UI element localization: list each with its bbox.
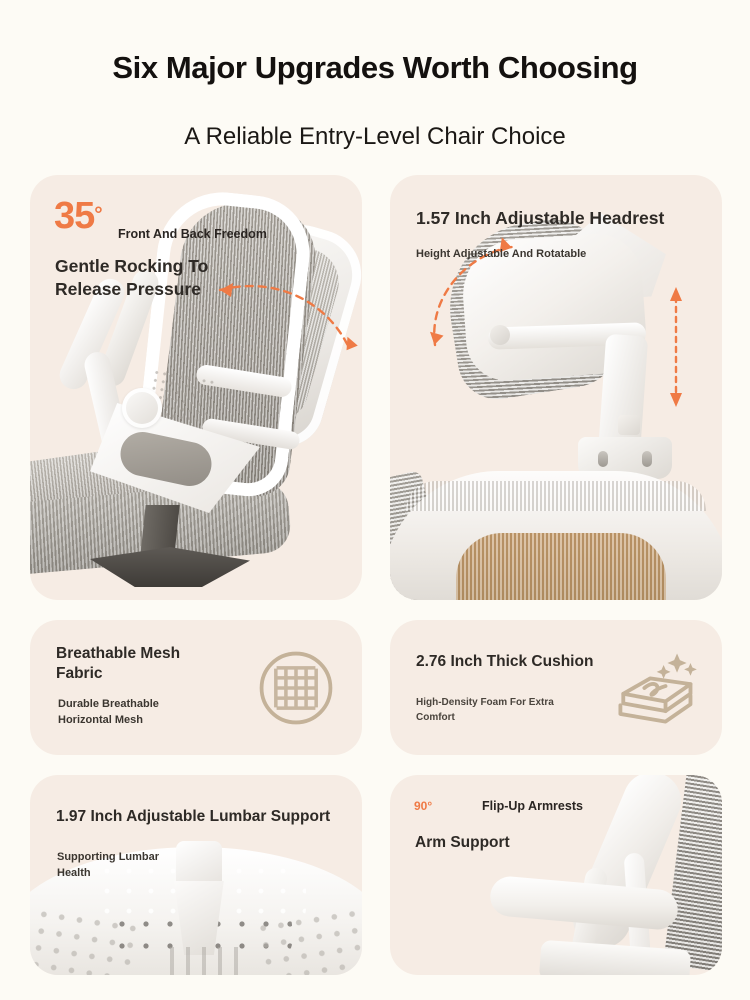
tilt-degree-unit: ° bbox=[94, 204, 101, 227]
stacked-cushion-sparkle-icon bbox=[606, 640, 702, 736]
mesh-subtext-line2: Horizontal Mesh bbox=[58, 713, 159, 729]
armrest-angle-badge: 90° bbox=[414, 799, 432, 813]
tilt-headline: Gentle Rocking To Release Pressure bbox=[55, 255, 208, 301]
feature-card-headrest[interactable]: 1.57 Inch Adjustable Headrest Height Adj… bbox=[390, 175, 722, 600]
feature-card-cushion[interactable]: 2.76 Inch Thick Cushion High-Density Foa… bbox=[390, 620, 722, 755]
page-title: Six Major Upgrades Worth Choosing bbox=[0, 50, 750, 86]
cushion-subtext: High-Density Foam For Extra Comfort bbox=[416, 695, 554, 725]
infographic-page: Six Major Upgrades Worth Choosing A Reli… bbox=[0, 0, 750, 1000]
feature-card-mesh[interactable]: Breathable Mesh Fabric Durable Breathabl… bbox=[30, 620, 362, 755]
lumbar-headline: 1.97 Inch Adjustable Lumbar Support bbox=[56, 807, 330, 827]
page-subtitle: A Reliable Entry-Level Chair Choice bbox=[0, 123, 750, 151]
feature-card-tilt[interactable]: 35° Front And Back Freedom Gentle Rockin… bbox=[30, 175, 362, 600]
cushion-subtext-line1: High-Density Foam For Extra bbox=[416, 695, 554, 710]
cushion-headline: 2.76 Inch Thick Cushion bbox=[416, 652, 593, 672]
headrest-headline: 1.57 Inch Adjustable Headrest bbox=[416, 207, 664, 230]
lumbar-subtext-line2: Health bbox=[57, 866, 159, 882]
tilt-degree-value: 35 bbox=[54, 195, 94, 237]
feature-card-armrest[interactable]: 90° Flip-Up Armrests Arm Support bbox=[390, 775, 722, 975]
mesh-headline-line2: Fabric bbox=[56, 664, 180, 684]
chair-headrest-photo bbox=[390, 175, 722, 600]
headrest-subtext: Height Adjustable And Rotatable bbox=[416, 247, 586, 263]
armrest-kicker: Flip-Up Armrests bbox=[482, 799, 583, 813]
tilt-headline-line1: Gentle Rocking To bbox=[55, 255, 208, 278]
lumbar-subtext-line1: Supporting Lumbar bbox=[57, 850, 159, 866]
tilt-badge: 35° bbox=[54, 197, 102, 235]
cushion-subtext-line2: Comfort bbox=[416, 710, 554, 725]
mesh-subtext-line1: Durable Breathable bbox=[58, 697, 159, 713]
mesh-headline-line1: Breathable Mesh bbox=[56, 644, 180, 664]
feature-card-lumbar[interactable]: 1.97 Inch Adjustable Lumbar Support Supp… bbox=[30, 775, 362, 975]
armrest-headline: Arm Support bbox=[415, 833, 510, 853]
mesh-headline: Breathable Mesh Fabric bbox=[56, 644, 180, 684]
tilt-kicker: Front And Back Freedom bbox=[118, 227, 267, 241]
tilt-headline-line2: Release Pressure bbox=[55, 278, 208, 301]
mesh-subtext: Durable Breathable Horizontal Mesh bbox=[58, 697, 159, 729]
lumbar-subtext: Supporting Lumbar Health bbox=[57, 850, 159, 882]
mesh-grid-circle-icon bbox=[254, 646, 338, 730]
